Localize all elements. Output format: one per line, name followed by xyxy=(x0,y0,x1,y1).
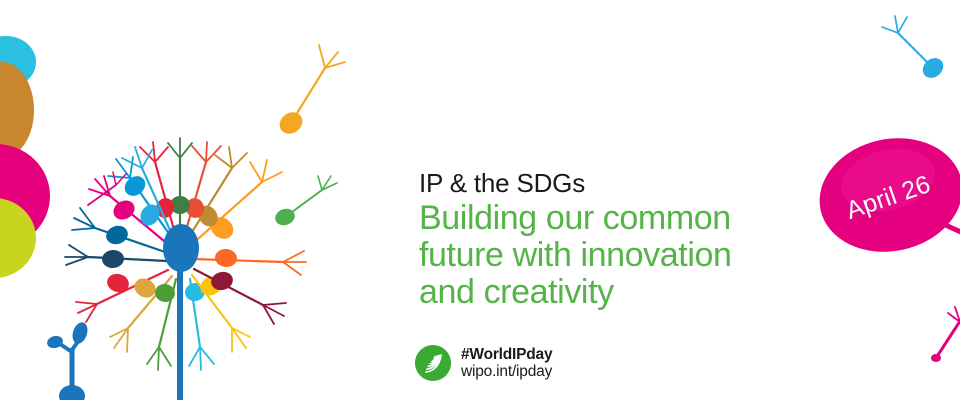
headline-block: IP & the SDGs Building our common future… xyxy=(419,168,839,311)
eyebrow-text: IP & the SDGs xyxy=(419,168,839,198)
floating-seed-cyan-topright xyxy=(882,16,947,82)
seed-orange-right xyxy=(194,248,306,275)
footer-lockup[interactable]: #WorldIPday wipo.int/ipday xyxy=(414,344,552,382)
floating-seed-orange-top xyxy=(275,45,345,138)
world-ip-day-banner: April 26 IP & the SDGs Building our comm… xyxy=(0,0,960,400)
sdg-dandelion xyxy=(46,138,306,400)
footer-text-group: #WorldIPday wipo.int/ipday xyxy=(461,346,552,380)
headline-line-1: Building our common xyxy=(419,200,839,237)
headline-text: Building our common future with innovati… xyxy=(419,200,839,311)
wipo-logo-icon xyxy=(414,344,452,382)
floating-seed-pink-bottomright xyxy=(931,307,960,362)
hashtag-text: #WorldIPday xyxy=(461,346,552,363)
dandelion-center-pod xyxy=(163,224,199,272)
floating-seed-green-mid xyxy=(273,176,337,228)
url-text[interactable]: wipo.int/ipday xyxy=(461,363,552,380)
corner-blob-group xyxy=(0,36,50,278)
dandelion-sprout xyxy=(46,320,90,400)
headline-line-3: and creativity xyxy=(419,274,839,311)
headline-line-2: future with innovation xyxy=(419,237,839,274)
